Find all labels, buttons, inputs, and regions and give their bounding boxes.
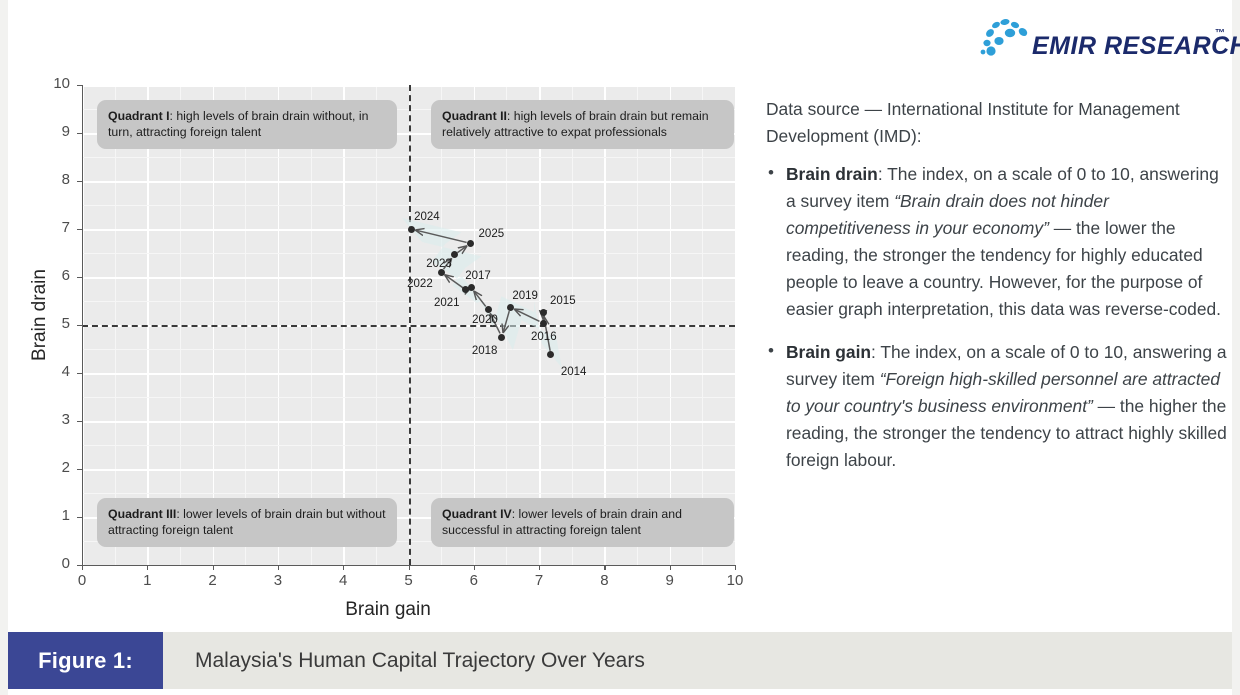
x-tick-label: 3 xyxy=(264,572,292,589)
data-point xyxy=(540,320,547,327)
data-point-label: 2018 xyxy=(472,345,498,357)
x-tick-label: 2 xyxy=(199,572,227,589)
x-tick xyxy=(82,565,83,570)
x-tick-label: 1 xyxy=(133,572,161,589)
data-point xyxy=(498,334,505,341)
y-tick-label: 0 xyxy=(40,555,70,572)
data-point xyxy=(485,306,492,313)
gridline-vertical xyxy=(735,85,737,565)
data-point xyxy=(540,309,547,316)
y-tick xyxy=(77,277,82,278)
x-tick xyxy=(539,565,540,570)
bullet-icon: • xyxy=(768,338,774,364)
data-point-label: 2017 xyxy=(465,270,491,282)
x-tick-label: 4 xyxy=(329,572,357,589)
definition-term: Brain drain xyxy=(786,164,878,184)
y-tick xyxy=(77,421,82,422)
data-point xyxy=(408,226,415,233)
data-point-label: 2022 xyxy=(407,278,433,290)
figure-title: Malaysia's Human Capital Trajectory Over… xyxy=(163,632,1232,689)
data-point-label: 2023 xyxy=(426,258,452,270)
y-axis-line xyxy=(82,85,83,565)
data-point xyxy=(507,304,514,311)
quadrant-name: Quadrant III xyxy=(108,507,176,521)
data-points-layer: 2014201520162017201820192020202120222023… xyxy=(82,85,735,565)
x-tick xyxy=(147,565,148,570)
y-tick xyxy=(77,325,82,326)
brain-drain-brain-gain-scatter-chart: 2014201520162017201820192020202120222023… xyxy=(18,72,758,617)
bullet-icon: • xyxy=(768,160,774,186)
data-point-label: 2021 xyxy=(434,297,460,309)
emir-swirl-dots-icon xyxy=(980,16,1032,60)
x-tick xyxy=(670,565,671,570)
y-tick-label: 9 xyxy=(40,123,70,140)
x-tick-label: 8 xyxy=(590,572,618,589)
x-tick xyxy=(278,565,279,570)
data-point-label: 2014 xyxy=(561,366,587,378)
y-tick xyxy=(77,517,82,518)
data-point-label: 2020 xyxy=(472,314,498,326)
data-point-label: 2019 xyxy=(512,290,538,302)
x-tick xyxy=(604,565,605,570)
quadrant-4-callout: Quadrant IV: lower levels of brain drain… xyxy=(431,498,734,547)
quadrant-2-callout: Quadrant II: high levels of brain drain … xyxy=(431,100,734,149)
y-tick-label: 2 xyxy=(40,459,70,476)
figure-caption-bar: Figure 1: Malaysia's Human Capital Traje… xyxy=(8,632,1232,689)
quadrant-name: Quadrant IV xyxy=(442,507,512,521)
data-point xyxy=(467,240,474,247)
data-point-label: 2025 xyxy=(479,228,505,240)
page-frame-left xyxy=(0,0,8,695)
y-tick xyxy=(77,373,82,374)
y-tick xyxy=(77,85,82,86)
logo-wordmark: EMIR RESEARCH xyxy=(1032,32,1240,61)
y-tick xyxy=(77,181,82,182)
x-tick xyxy=(474,565,475,570)
data-point-label: 2024 xyxy=(414,211,440,223)
quadrant-3-callout: Quadrant III: lower levels of brain drai… xyxy=(97,498,397,547)
x-tick xyxy=(213,565,214,570)
y-axis-label: Brain drain xyxy=(29,205,51,425)
data-source-text: Data source — International Institute fo… xyxy=(766,96,1228,150)
definition-item: •Brain drain: The index, on a scale of 0… xyxy=(766,161,1228,323)
y-tick xyxy=(77,229,82,230)
x-tick-label: 5 xyxy=(395,572,423,589)
data-point-label: 2016 xyxy=(531,331,557,343)
data-point xyxy=(547,351,554,358)
quadrant-1-callout: Quadrant I: high levels of brain drain w… xyxy=(97,100,397,149)
x-axis-label: Brain gain xyxy=(18,599,758,621)
y-tick xyxy=(77,469,82,470)
x-tick xyxy=(343,565,344,570)
y-tick-label: 1 xyxy=(40,507,70,524)
emir-research-logo: EMIR RESEARCH ™ xyxy=(980,14,1230,64)
data-point xyxy=(462,286,469,293)
y-tick xyxy=(77,133,82,134)
y-tick-label: 8 xyxy=(40,171,70,188)
x-tick-label: 7 xyxy=(525,572,553,589)
explanatory-text-panel: Data source — International Institute fo… xyxy=(766,96,1228,490)
figure-number-badge: Figure 1: xyxy=(8,632,163,689)
page-frame-right xyxy=(1232,0,1240,695)
x-tick xyxy=(735,565,736,570)
y-tick-label: 10 xyxy=(40,75,70,92)
x-tick-label: 6 xyxy=(460,572,488,589)
survey-item-quote: “Foreign high-skilled personnel are attr… xyxy=(786,369,1220,416)
data-point-label: 2015 xyxy=(550,295,576,307)
x-tick-label: 0 xyxy=(68,572,96,589)
x-tick-label: 9 xyxy=(656,572,684,589)
survey-item-quote: “Brain drain does not hinder competitive… xyxy=(786,191,1109,238)
plot-area: 2014201520162017201820192020202120222023… xyxy=(82,85,735,565)
definition-item: •Brain gain: The index, on a scale of 0 … xyxy=(766,339,1228,474)
quadrant-name: Quadrant II xyxy=(442,109,507,123)
definition-list: •Brain drain: The index, on a scale of 0… xyxy=(766,161,1228,474)
x-tick-label: 10 xyxy=(721,572,749,589)
trademark-symbol: ™ xyxy=(1215,28,1225,39)
x-tick xyxy=(409,565,410,570)
y-tick xyxy=(77,565,82,566)
quadrant-name: Quadrant I xyxy=(108,109,170,123)
definition-term: Brain gain xyxy=(786,342,871,362)
